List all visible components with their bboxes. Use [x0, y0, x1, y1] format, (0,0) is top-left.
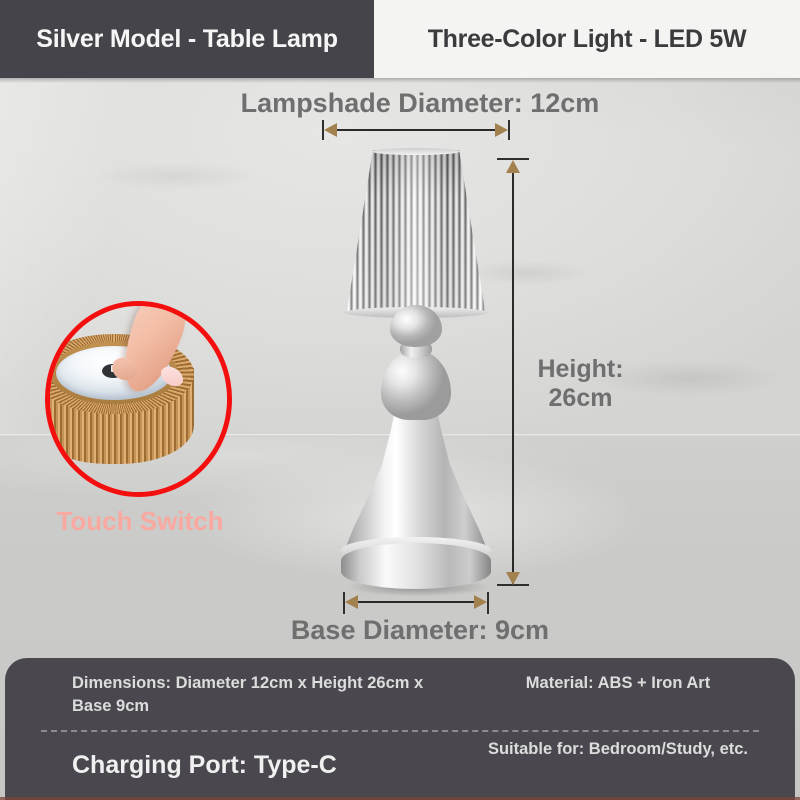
header-right-badge: Three-Color Light - LED 5W [374, 0, 800, 78]
spec-charging-port-text: Charging Port: Type-C [72, 750, 337, 780]
spec-dimensions-text: Dimensions: Diameter 12cm x Height 26cm … [72, 672, 455, 719]
touch-switch-label: Touch Switch [42, 506, 238, 537]
height-dim-arrow-down-icon [506, 572, 520, 585]
height-dim-arrow-up-icon [506, 160, 520, 173]
spec-suitable-for-text: Suitable for: Bedroom/Study, etc. [488, 738, 748, 761]
header-banner: Silver Model - Table Lamp Three-Color Li… [0, 0, 800, 78]
spec-row-bottom: Charging Port: Type-C Suitable for: Bedr… [5, 738, 795, 792]
lampshade [318, 150, 514, 314]
spec-row-top: Dimensions: Diameter 12cm x Height 26cm … [5, 672, 795, 730]
base-dim-tick-right [487, 592, 489, 614]
height-label-line1: Height: [518, 355, 643, 384]
product-infographic: Silver Model - Table Lamp Three-Color Li… [0, 0, 800, 800]
height-label: Height: 26cm [518, 355, 643, 412]
callout-photo [50, 306, 227, 492]
shade-dim-line [326, 129, 506, 131]
header-left-badge: Silver Model - Table Lamp [0, 0, 374, 78]
lamp-base-disc [341, 543, 491, 589]
base-dim-line [347, 601, 485, 603]
spec-charging-cell: Charging Port: Type-C [5, 738, 455, 792]
base-diameter-label: Base Diameter: 9cm [180, 615, 660, 646]
base-dim-arrow-right-icon [474, 595, 487, 609]
height-dim-line [512, 162, 514, 584]
lampshade-diameter-label: Lampshade Diameter: 12cm [200, 88, 640, 119]
spec-material-text: Material: ABS + Iron Art [526, 672, 710, 695]
touch-switch-callout [45, 301, 232, 497]
spec-suitable-cell: Suitable for: Bedroom/Study, etc. [455, 738, 795, 792]
shade-dim-arrow-left-icon [324, 123, 337, 137]
spec-panel: Dimensions: Diameter 12cm x Height 26cm … [5, 658, 795, 800]
lampshade-top-rim [372, 148, 460, 155]
base-dim-arrow-left-icon [345, 595, 358, 609]
header-dropshadow [0, 78, 800, 83]
spec-dimensions-cell: Dimensions: Diameter 12cm x Height 26cm … [5, 672, 455, 730]
spec-divider [41, 730, 759, 732]
lamp-neck-bulb [390, 305, 442, 347]
lampshade-sheen [318, 150, 514, 314]
shade-dim-arrow-right-icon [495, 123, 508, 137]
light-spec-title: Three-Color Light - LED 5W [428, 25, 747, 53]
model-title: Silver Model - Table Lamp [36, 25, 338, 53]
spec-material-cell: Material: ABS + Iron Art [455, 672, 795, 730]
height-label-line2: 26cm [518, 384, 643, 413]
shade-dim-tick-right [508, 120, 510, 140]
